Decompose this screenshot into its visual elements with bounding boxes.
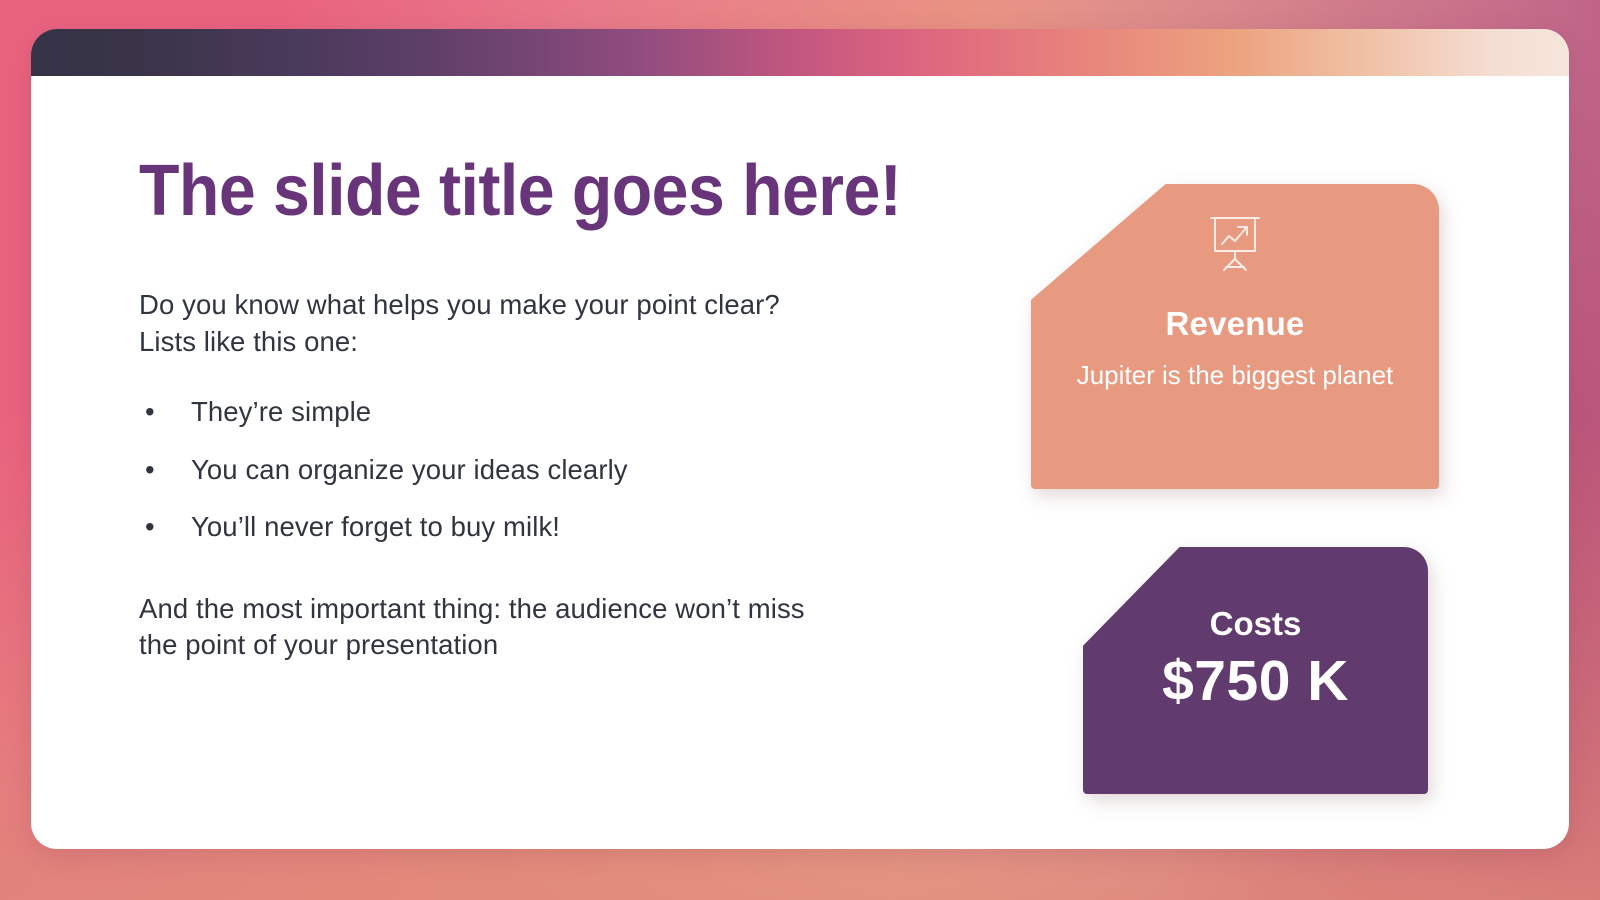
presentation-chart-icon	[1207, 212, 1263, 272]
list-item-label: You can organize your ideas clearly	[191, 454, 628, 485]
costs-card-value: $750 K	[1083, 650, 1428, 714]
slide-panel: The slide title goes here! Do you know w…	[31, 29, 1569, 849]
closing-paragraph: And the most important thing: the audien…	[139, 591, 839, 664]
slide-background: The slide title goes here! Do you know w…	[0, 0, 1600, 900]
list-item-label: You’ll never forget to buy milk!	[191, 511, 560, 542]
costs-card-heading: Costs	[1083, 606, 1428, 642]
revenue-card-content: Revenue Jupiter is the biggest planet	[1031, 184, 1439, 393]
list-item: • You’ll never forget to buy milk!	[139, 509, 839, 546]
list-item: • They’re simple	[139, 394, 839, 431]
revenue-card-subtext: Jupiter is the biggest planet	[1031, 358, 1439, 392]
list-item: • You can organize your ideas clearly	[139, 452, 839, 489]
costs-card: Costs $750 K	[1083, 547, 1428, 794]
body-content-column: Do you know what helps you make your poi…	[139, 287, 839, 664]
intro-paragraph: Do you know what helps you make your poi…	[139, 287, 839, 360]
slide-title: The slide title goes here!	[139, 155, 1059, 228]
bullet-marker-icon: •	[145, 509, 155, 546]
bullet-marker-icon: •	[145, 452, 155, 489]
top-accent-bar	[31, 29, 1569, 76]
bullet-marker-icon: •	[145, 394, 155, 431]
revenue-card-heading: Revenue	[1031, 306, 1439, 342]
list-item-label: They’re simple	[191, 396, 371, 427]
bullet-list: • They’re simple • You can organize your…	[139, 394, 839, 546]
revenue-card: Revenue Jupiter is the biggest planet	[1031, 184, 1439, 489]
costs-card-content: Costs $750 K	[1083, 547, 1428, 714]
